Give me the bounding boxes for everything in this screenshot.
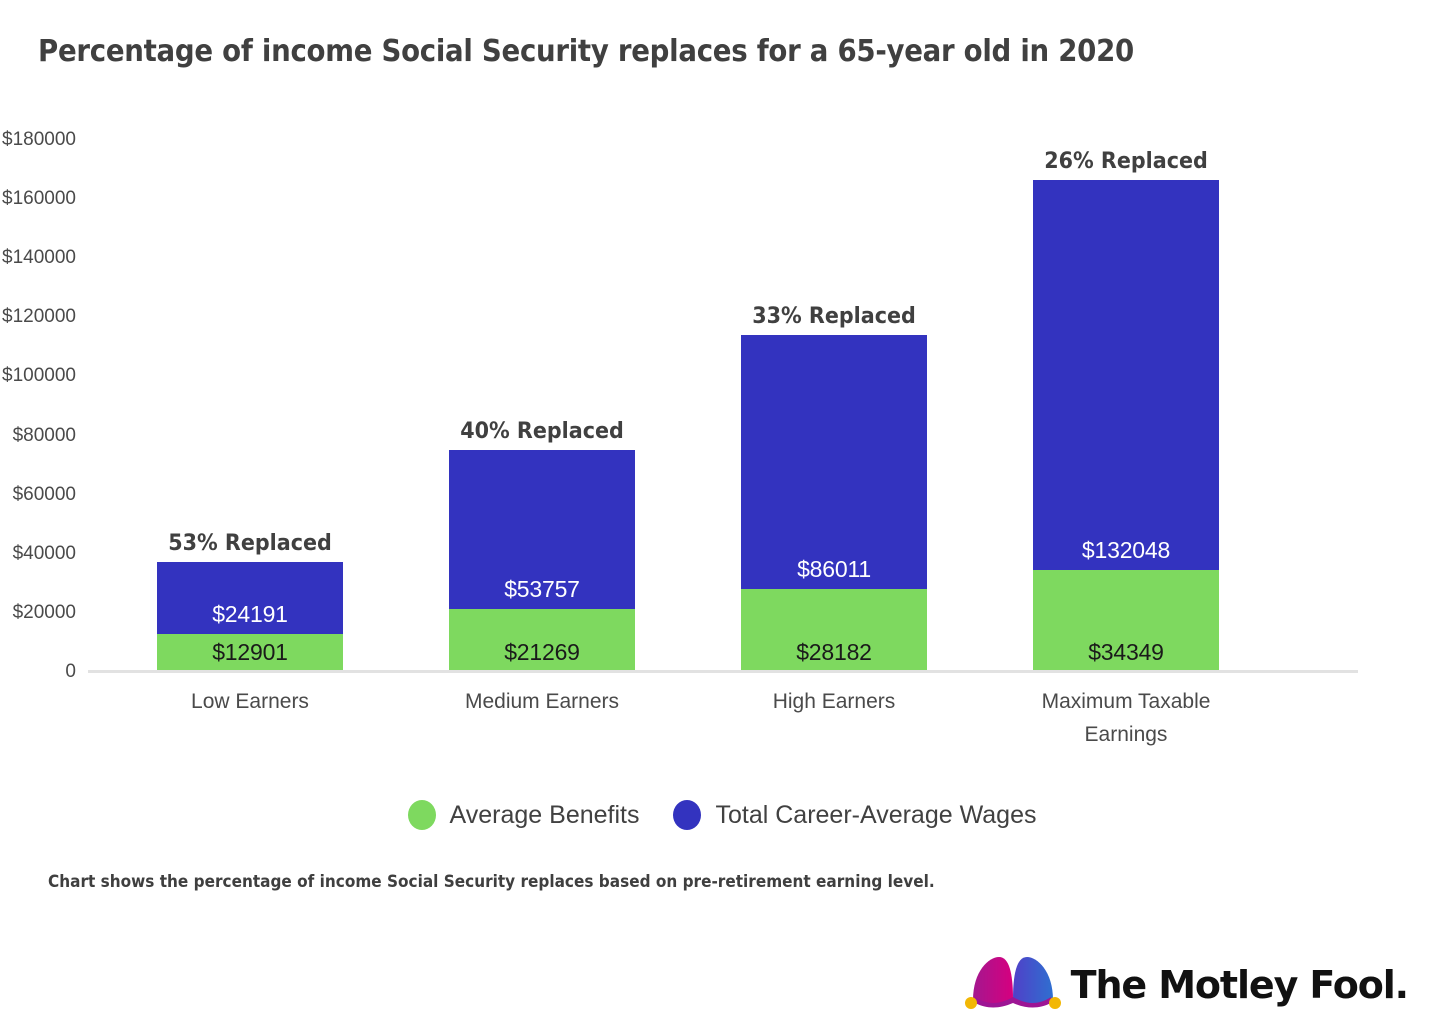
y-axis-tick-label: 0 [0, 661, 76, 683]
y-axis-tick-label: $120000 [0, 306, 76, 328]
legend-swatch-icon [673, 800, 701, 830]
bar-segment-value-label: $21269 [449, 639, 635, 666]
bar-segment-value-label: $86011 [741, 556, 927, 583]
chart-legend: Average BenefitsTotal Career-Average Wag… [0, 800, 1444, 830]
legend-label: Average Benefits [450, 801, 640, 830]
bar-segment-value-label: $24191 [157, 601, 343, 628]
y-axis-tick-label: $180000 [0, 129, 76, 151]
bar-segment-value-label: $34349 [1033, 639, 1219, 666]
y-axis-tick-label: $20000 [0, 602, 76, 624]
logo-wordmark-period: . [1395, 963, 1408, 1007]
plot-area: $180000$160000$140000$120000$100000$8000… [88, 140, 1358, 672]
category-label-line: Maximum Taxable [999, 686, 1253, 719]
bar-segment-value-label: $12901 [157, 639, 343, 666]
bar-annotation-percent-replaced: 26% Replaced [1001, 149, 1251, 174]
bar-segment-value-label: $53757 [449, 576, 635, 603]
x-axis-line [88, 670, 1358, 673]
y-axis-tick-label: $80000 [0, 425, 76, 447]
y-axis-tick-label: $60000 [0, 484, 76, 506]
x-axis-category-label: Low Earners [123, 686, 377, 719]
bar-stack: $53757$21269 [449, 450, 635, 672]
y-axis-tick-label: $140000 [0, 247, 76, 269]
jester-hat-icon [965, 951, 1061, 1018]
bar-segment-wages[interactable]: $53757 [449, 450, 635, 609]
bar-segment-wages[interactable]: $86011 [741, 335, 927, 589]
x-axis-category-label: Medium Earners [415, 686, 669, 719]
bar-segment-benefits[interactable]: $12901 [157, 634, 343, 672]
bar-stack: $24191$12901 [157, 562, 343, 672]
bar-group[interactable]: $86011$2818233% Replaced [741, 140, 927, 672]
chart-footnote: Chart shows the percentage of income Soc… [48, 872, 935, 892]
x-axis-category-label: High Earners [707, 686, 961, 719]
bar-group[interactable]: $132048$3434926% Replaced [1033, 140, 1219, 672]
y-axis: $180000$160000$140000$120000$100000$8000… [0, 140, 76, 672]
bar-segment-wages[interactable]: $24191 [157, 562, 343, 633]
bar-segment-value-label: $28182 [741, 639, 927, 666]
bar-segment-benefits[interactable]: $34349 [1033, 570, 1219, 672]
legend-item-wages[interactable]: Total Career-Average Wages [673, 800, 1036, 830]
legend-swatch-icon [408, 800, 436, 830]
bar-stack: $86011$28182 [741, 335, 927, 672]
bar-segment-benefits[interactable]: $28182 [741, 589, 927, 672]
logo-wordmark: The Motley Fool. [1071, 963, 1408, 1007]
y-axis-tick-label: $100000 [0, 365, 76, 387]
legend-item-benefits[interactable]: Average Benefits [408, 800, 640, 830]
bar-group[interactable]: $24191$1290153% Replaced [157, 140, 343, 672]
y-axis-tick-label: $40000 [0, 543, 76, 565]
category-label-line: Earnings [999, 719, 1253, 752]
bar-annotation-percent-replaced: 53% Replaced [125, 531, 375, 556]
logo-wordmark-text: The Motley Fool [1071, 963, 1395, 1007]
bar-stack: $132048$34349 [1033, 180, 1219, 672]
legend-label: Total Career-Average Wages [715, 801, 1036, 830]
motley-fool-logo: The Motley Fool. [965, 951, 1408, 1018]
bar-annotation-percent-replaced: 40% Replaced [417, 419, 667, 444]
bar-group[interactable]: $53757$2126940% Replaced [449, 140, 635, 672]
y-axis-tick-label: $160000 [0, 188, 76, 210]
bar-segment-wages[interactable]: $132048 [1033, 180, 1219, 570]
category-label-line: Medium Earners [415, 686, 669, 719]
bar-segment-benefits[interactable]: $21269 [449, 609, 635, 672]
chart-title: Percentage of income Social Security rep… [38, 34, 1134, 69]
category-label-line: Low Earners [123, 686, 377, 719]
bar-segment-value-label: $132048 [1033, 537, 1219, 564]
category-label-line: High Earners [707, 686, 961, 719]
x-axis-category-label: Maximum TaxableEarnings [999, 686, 1253, 751]
bar-annotation-percent-replaced: 33% Replaced [709, 304, 959, 329]
